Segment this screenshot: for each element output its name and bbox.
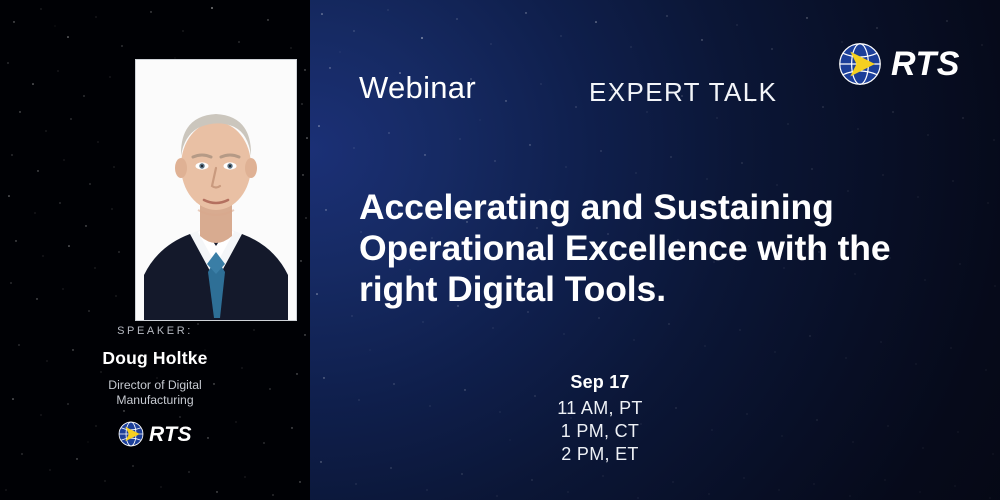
page-title: Accelerating and Sustaining Operational … xyxy=(359,187,949,310)
speaker-role-line-2: Manufacturing xyxy=(116,393,193,407)
kicker-webinar: Webinar xyxy=(359,72,476,103)
brand-wordmark: RTS xyxy=(891,47,960,81)
speaker-info: SPEAKER: Doug Holtke Director of Digital… xyxy=(0,325,310,447)
speaker-role: Director of Digital Manufacturing xyxy=(0,378,310,408)
schedule-time-et: 2 PM, ET xyxy=(420,443,780,466)
webinar-promo-banner: SPEAKER: Doug Holtke Director of Digital… xyxy=(0,0,1000,500)
schedule-block: Sep 17 11 AM, PT 1 PM, CT 2 PM, ET xyxy=(420,372,780,466)
speaker-name: Doug Holtke xyxy=(0,348,310,369)
speaker-brand-logo: RTS xyxy=(0,421,310,447)
rts-globe-arrow-icon xyxy=(118,421,144,447)
schedule-time-pt: 11 AM, PT xyxy=(420,397,780,420)
rts-globe-arrow-icon xyxy=(838,42,882,86)
headline-line-2: Operational Excellence with the xyxy=(359,228,949,269)
eyebrow-expert-talk: EXPERT TALK xyxy=(589,79,777,105)
headline-line-3: right Digital Tools. xyxy=(359,269,949,310)
portrait-illustration xyxy=(136,60,296,320)
schedule-date: Sep 17 xyxy=(420,372,780,393)
headline-line-1: Accelerating and Sustaining xyxy=(359,187,949,228)
speaker-label: SPEAKER: xyxy=(0,325,310,337)
brand-logo: RTS xyxy=(838,42,960,86)
speaker-role-line-1: Director of Digital xyxy=(108,378,201,392)
speaker-panel: SPEAKER: Doug Holtke Director of Digital… xyxy=(0,0,310,500)
schedule-time-ct: 1 PM, CT xyxy=(420,420,780,443)
speaker-brand-wordmark: RTS xyxy=(149,424,192,445)
speaker-photo xyxy=(135,59,297,321)
header-row: Webinar EXPERT TALK xyxy=(359,72,777,103)
